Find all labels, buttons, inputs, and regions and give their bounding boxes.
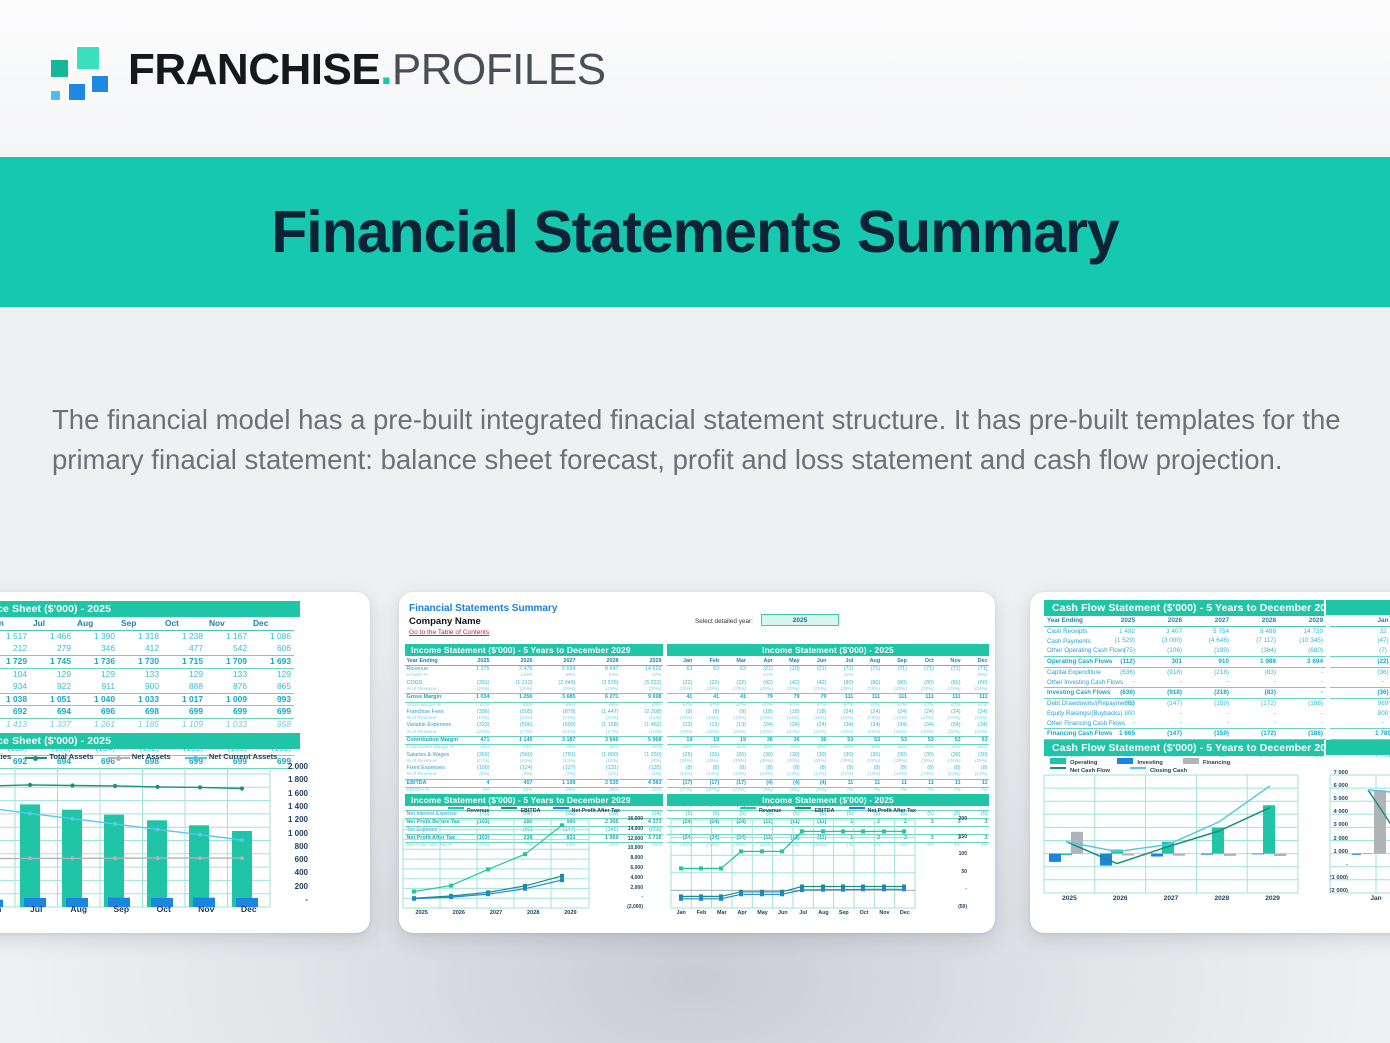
cell: (13) — [721, 722, 748, 729]
cell: Equity Raisings/(Buybacks) — [1044, 709, 1091, 719]
x-tick: Jun — [773, 910, 793, 916]
balance-sheet-chart — [0, 767, 270, 907]
cell: (42) — [747, 680, 774, 687]
x-tick: May — [752, 910, 772, 916]
cell: 11 — [962, 779, 989, 787]
table-row: (36) — [1330, 667, 1390, 677]
cell: (5 222) — [620, 680, 663, 687]
cell: (3 576) — [577, 680, 620, 687]
cell: Aug — [74, 618, 118, 630]
cell: (29%) — [448, 687, 491, 694]
cell: (323) — [448, 722, 491, 729]
cash-flow-chart-svg — [1044, 775, 1298, 893]
cell: - — [1138, 718, 1185, 728]
cell: (17) — [667, 779, 694, 787]
cell: (20%) — [962, 730, 989, 737]
cell: 19 — [667, 737, 694, 745]
cell: % of Revenue — [405, 730, 448, 737]
cell: Financing Cash Flows — [1044, 729, 1091, 740]
cell: 53 — [935, 737, 962, 745]
cell: 1 033 — [118, 693, 162, 706]
cell: 19 — [721, 737, 748, 745]
cell: (20%) — [667, 730, 694, 737]
cell: Jun — [801, 658, 828, 666]
cell: (71) — [855, 666, 882, 674]
cell: 699 — [206, 706, 250, 719]
screenshot-card-income-statement[interactable]: Financial Statements Summary Company Nam… — [399, 592, 995, 933]
cell: (22) — [667, 680, 694, 687]
cell: (1 447) — [577, 709, 620, 716]
cell: - — [1138, 677, 1185, 687]
cell: 9 488 — [1232, 626, 1279, 636]
cell: 30% — [448, 745, 491, 752]
cell: 30% — [747, 745, 774, 752]
table-row: (9)(9)(9)(18)(18)(18)(24)(24)(24)(24)(24… — [667, 709, 989, 716]
cell: 2028 — [1232, 616, 1279, 626]
x-tick: 2028 — [1196, 895, 1247, 902]
cell: 696 — [74, 706, 118, 719]
table-row: Gross Margin %67%69%69%69%69% — [405, 702, 663, 709]
balance-sheet-table-title: Balance Sheet ($'000) - 2025 — [0, 601, 300, 617]
cell: (30) — [908, 752, 935, 759]
cell: Variable Expenses — [405, 722, 448, 729]
cash-flow-table-title: Cash Flow Statement ($'000) - 5 Years to… — [1044, 600, 1324, 616]
table-row: Franchise Fees(396)(505)(879)(1 447)(2 2… — [405, 709, 663, 716]
table-row: (13%)(13%)(13%)(13%)(13%)(13%)(13%)(13%)… — [667, 772, 989, 779]
y-tick: 16,000 — [628, 816, 643, 822]
cell: (918) — [1138, 667, 1185, 677]
x-tick: Oct — [854, 910, 874, 916]
cell: - — [1279, 677, 1326, 687]
y-tick: 50 — [961, 869, 967, 875]
cell: (14%) — [534, 730, 577, 737]
legend-label: Investing — [1137, 760, 1162, 766]
cell: Gross Margin % — [405, 702, 448, 709]
x-tick: 2029 — [552, 910, 589, 916]
legend-item: Financing — [1183, 758, 1230, 766]
y-tick: 1 400 — [288, 802, 308, 811]
cell: (17%) — [577, 730, 620, 737]
cell: 30% — [801, 745, 828, 752]
cell: Cash Payments — [1044, 636, 1091, 646]
legend-label: Financing — [1203, 760, 1230, 766]
income-5y-chart-svg — [403, 820, 589, 908]
cell: 1 185 — [118, 719, 162, 731]
cell: 63 — [721, 666, 748, 674]
cell: (13%) — [962, 772, 989, 779]
cell: 1 789 — [1330, 729, 1390, 740]
cell: Operating Cash Flows — [1044, 656, 1091, 667]
cell: 2029 — [620, 658, 663, 666]
cell: 1 709 — [206, 655, 250, 668]
table-row: Equity Raisings/(Buybacks)800---- — [1044, 709, 1326, 719]
cash-flow-table: Year Ending20252026202720282029Cash Rece… — [1044, 616, 1326, 760]
cell: 53 — [882, 737, 909, 745]
cell: 63 — [667, 666, 694, 674]
cell: 32 — [1330, 626, 1390, 636]
cell: Oct — [908, 658, 935, 666]
cell: (29%) — [801, 687, 828, 694]
y-tick: 6,000 — [630, 865, 643, 871]
markers-revenue — [412, 823, 564, 893]
cell: 67% — [908, 702, 935, 709]
table-row: 414141797979111111111111111111 — [667, 694, 989, 702]
cell: 11 — [882, 779, 909, 787]
page-header: FRANCHISE.PROFILES — [0, 0, 1390, 157]
cell: (4) — [774, 779, 801, 787]
cell: 67% — [828, 702, 855, 709]
cell: (29%) — [828, 687, 855, 694]
legend-label: Closing Cash — [1150, 768, 1187, 774]
cell: 53 — [962, 737, 989, 745]
cell: (106) — [1138, 646, 1185, 656]
cell: (10%) — [620, 730, 663, 737]
cell: 19 — [694, 737, 721, 745]
y-tick: 800 — [295, 842, 308, 851]
cell: 30% — [774, 745, 801, 752]
cell: 129 — [162, 668, 206, 680]
cell: 993 — [250, 693, 294, 706]
x-tick: Sep — [100, 904, 143, 922]
cell: (13%) — [667, 772, 694, 779]
x-tick: Nov — [185, 904, 228, 922]
income-monthly-chart-title: Income Statement ($'000) - 2025 — [667, 794, 989, 806]
cell: 1 729 — [0, 655, 30, 668]
cell: 279 — [30, 643, 74, 655]
cell: Other Financing Cash Flows — [1044, 718, 1091, 728]
legend-item: Revenue — [740, 808, 781, 814]
legend-row: Net Cash FlowClosing Cash — [1050, 768, 1320, 774]
cell: (42) — [774, 680, 801, 687]
brand-wordmark: FRANCHISE.PROFILES — [128, 48, 606, 92]
cell: (20%) — [882, 730, 909, 737]
table-row: (7) — [1330, 646, 1390, 656]
cell: Aug — [855, 658, 882, 666]
bar-operating-jan — [1363, 853, 1372, 854]
cell: (29%) — [534, 687, 577, 694]
cell: 1 145 — [491, 737, 534, 745]
cell: (29%) — [962, 687, 989, 694]
legend-item: Net Profit After Tax — [553, 808, 621, 814]
logo-square-4 — [67, 82, 87, 102]
cell: 698 — [118, 706, 162, 719]
cell: 1 167 — [206, 630, 250, 642]
cell: Nov — [935, 658, 962, 666]
year-select-input[interactable]: 2025 — [761, 614, 839, 626]
legend-label: Total Assets — [49, 752, 93, 761]
cell: 67% — [667, 702, 694, 709]
cell: 3 666 — [577, 737, 620, 745]
cell: (29%) — [747, 687, 774, 694]
table-row: % of Revenue(20%)(17%)(14%)(17%)(10%) — [405, 730, 663, 737]
cell: 11 — [828, 779, 855, 787]
cell: 694 — [30, 706, 74, 719]
y-tick: 12,000 — [628, 836, 643, 842]
cell: (71) — [882, 666, 909, 674]
legend-item: Net Cash Flow — [1050, 768, 1110, 774]
cell: 111 — [882, 694, 909, 702]
income-5y-x-axis: 20252026202720282029 — [403, 910, 589, 916]
cash-flow-monthly-chart — [1330, 775, 1390, 893]
cell: (369) — [448, 752, 491, 759]
cell: (13%) — [908, 772, 935, 779]
cell: (36) — [1330, 688, 1390, 699]
cell: 23% — [491, 745, 534, 752]
table-row: Gross Margin1 0341 2563 6856 2719 698 — [405, 694, 663, 702]
cell: 1 375 — [448, 666, 491, 674]
cell: (505) — [491, 709, 534, 716]
cell: Contribution Margin — [405, 737, 448, 745]
cell: 30% — [882, 745, 909, 752]
cell: 111 — [855, 694, 882, 702]
cell: (22) — [721, 680, 748, 687]
cell: (24) — [855, 709, 882, 716]
cell: (29%) — [577, 687, 620, 694]
cell: (18) — [801, 709, 828, 716]
cell: 3 187 — [534, 737, 577, 745]
cell: (9) — [721, 709, 748, 716]
cell: Sep — [882, 658, 909, 666]
x-tick: Mar — [712, 910, 732, 916]
cell: (13%) — [774, 772, 801, 779]
brand-logo: FRANCHISE.PROFILES — [48, 44, 606, 96]
income-monthly-y-axis: 20015010050-(50) — [915, 816, 977, 912]
line-net-cash-flow — [1066, 808, 1270, 864]
cell: (25) — [667, 752, 694, 759]
cell: 11 — [855, 779, 882, 787]
cell: (26) — [721, 752, 748, 759]
cell: 412 — [118, 643, 162, 655]
table-row: 945934922911900888876865 — [0, 681, 294, 693]
cell: (596) — [491, 722, 534, 729]
cell: (172) — [1232, 698, 1279, 708]
cell: (2 049) — [534, 680, 577, 687]
x-tick: Jul — [793, 910, 813, 916]
table-row: (22) — [1330, 656, 1390, 667]
y-tick: 1 800 — [288, 775, 308, 784]
cell: (18) — [747, 709, 774, 716]
cell: (29%) — [908, 687, 935, 694]
cell: (159) — [1185, 698, 1232, 708]
cell: Mar — [721, 658, 748, 666]
cell: 1 199 — [534, 779, 577, 787]
cell: 1 736 — [74, 655, 118, 668]
cell: (20%) — [747, 730, 774, 737]
cell: - — [1185, 718, 1232, 728]
cell: (13%) — [855, 772, 882, 779]
cell: (199) — [1185, 646, 1232, 656]
cash-flow-table-title-continuation — [1326, 600, 1390, 615]
table-row: Cash Payments(1 529)(3 000)(4 646)(7 117… — [1044, 636, 1326, 646]
cash-flow-monthly-chart-svg — [1330, 775, 1390, 893]
cell: (1%) — [620, 772, 663, 779]
table-row: 1 7491 7291 7451 7361 7301 7151 7091 693 — [0, 655, 294, 668]
cell: (1 158) — [577, 722, 620, 729]
cell: (29%) — [882, 687, 909, 694]
cell: (13%) — [747, 772, 774, 779]
cell: (218) — [1185, 667, 1232, 677]
cell: (18) — [774, 709, 801, 716]
table-row: (47) — [1330, 636, 1390, 646]
cell: 1 318 — [118, 630, 162, 642]
gridlines — [671, 820, 915, 908]
cell: (560) — [491, 752, 534, 759]
table-row: Investing Cash Flows(636)(918)(218)(83)- — [1044, 688, 1326, 699]
cell: 1 017 — [162, 693, 206, 706]
table-row: Contribution Margin %30%23%28%36%40% — [405, 745, 663, 752]
cell: Dec — [962, 658, 989, 666]
cell: 1 034 — [448, 694, 491, 702]
legend-label: Net Profit After Tax — [572, 808, 621, 814]
income-5y-table-title: Income Statement ($'000) - 5 Years to De… — [405, 644, 663, 656]
table-row: Year Ending20252026202720282029 — [405, 658, 663, 666]
cell: 4 583 — [620, 779, 663, 787]
cell: 41 — [694, 694, 721, 702]
x-tick: Feb — [691, 910, 711, 916]
cell: 1 033 — [206, 719, 250, 731]
cell: 67% — [855, 702, 882, 709]
cell: 692 — [0, 706, 30, 719]
cell: 2027 — [1185, 616, 1232, 626]
cell: 2 535 — [577, 779, 620, 787]
cell: 11 — [908, 779, 935, 787]
table-row: Capital Expenditure(636)(918)(218)(83)- — [1044, 667, 1326, 677]
cell: (2 208) — [620, 709, 663, 716]
cell: Jan — [667, 658, 694, 666]
cell: (879) — [534, 709, 577, 716]
cell: 69% — [577, 702, 620, 709]
cash-flow-chart-title-continuation — [1326, 740, 1390, 755]
cell: 699 — [250, 706, 294, 719]
cell: 28% — [534, 745, 577, 752]
logo-square-3 — [90, 74, 110, 94]
cell: (1 000) — [577, 752, 620, 759]
x-tick: 2025 — [1044, 895, 1095, 902]
toc-link[interactable]: Go to the Table of Contents — [409, 629, 489, 636]
cell: 1 693 — [250, 655, 294, 668]
cell: (24) — [801, 722, 828, 729]
cell: Apr — [747, 658, 774, 666]
table-row: JanFebMarAprMayJunJulAugSepOctNovDec — [667, 658, 989, 666]
table-row: MayJunJulAugSepOctNovDec — [0, 618, 294, 630]
cell: (22) — [1330, 656, 1390, 667]
cell: 4 — [448, 779, 491, 787]
cash-flow-chart-legend: OperatingInvestingFinancingNet Cash Flow… — [1050, 758, 1320, 776]
screenshot-card-balance-sheet[interactable]: Balance Sheet ($'000) - 2025 MayJunJulAu… — [0, 592, 370, 933]
title-banner: Financial Statements Summary — [0, 157, 1390, 307]
cell: 3 685 — [534, 694, 577, 702]
income-monthly-table-title: Income Statement ($'000) - 2025 — [667, 644, 989, 656]
cell: (918) — [1138, 688, 1185, 699]
cell: 36% — [577, 745, 620, 752]
cell: 2027 — [534, 658, 577, 666]
cell: - — [1279, 667, 1326, 677]
cell: 53 — [908, 737, 935, 745]
cell: 63 — [694, 666, 721, 674]
gridlines — [403, 820, 589, 908]
cell: (218) — [1185, 688, 1232, 699]
cell: - — [1232, 677, 1279, 687]
cell: 1 238 — [162, 630, 206, 642]
cell: 67% — [774, 702, 801, 709]
cell: 9 698 — [620, 694, 663, 702]
cell: (22) — [694, 680, 721, 687]
cell: (20%) — [774, 730, 801, 737]
cell: (2%) — [534, 772, 577, 779]
cell: (9) — [667, 709, 694, 716]
cell: (13%) — [721, 772, 748, 779]
cell: 53 — [855, 737, 882, 745]
y-tick: (2,000) — [627, 904, 643, 910]
income-5y-chart-title: Income Statement ($'000) - 5 Years to De… — [405, 794, 663, 806]
cell: (2%) — [577, 772, 620, 779]
cell: (24) — [908, 709, 935, 716]
legend-item: EBITDA — [501, 808, 540, 814]
balance-sheet-chart-title: Balance Sheet ($'000) - 2025 — [0, 733, 300, 749]
legend-label: Net Cash Flow — [1070, 768, 1110, 774]
cell: 67% — [694, 702, 721, 709]
cell: - — [1232, 709, 1279, 719]
cash-flow-chart — [1044, 775, 1298, 893]
y-tick: 4,000 — [630, 875, 643, 881]
cell: 111 — [962, 694, 989, 702]
y-tick: 1 200 — [288, 815, 308, 824]
cell: 1 086 — [250, 630, 294, 642]
cell: 67% — [448, 702, 491, 709]
cell: Other Operating Cash Flows — [1044, 646, 1091, 656]
cell: (29%) — [667, 687, 694, 694]
cell: 67% — [801, 702, 828, 709]
cell: 477 — [162, 643, 206, 655]
legend-label: Revenue — [759, 808, 781, 814]
table-row: Salaries & Wages(369)(560)(781)(1 000)(1… — [405, 752, 663, 759]
cell: 129 — [74, 668, 118, 680]
screenshot-card-cash-flow[interactable]: Cash Flow Statement ($'000) - 5 Years to… — [1030, 592, 1390, 933]
cell: Oct — [162, 618, 206, 630]
cell: 2025 — [1091, 616, 1138, 626]
cell: 1 256 — [491, 694, 534, 702]
cell: 800 — [1330, 709, 1390, 719]
cell: (20%) — [828, 730, 855, 737]
cell: 67% — [721, 702, 748, 709]
cell: - — [1279, 718, 1326, 728]
cell: (20%) — [721, 730, 748, 737]
income-monthly-chart — [671, 820, 915, 908]
cell: 865 — [250, 681, 294, 693]
legend-label: EBITDA — [814, 808, 834, 814]
y-tick: 150 — [959, 834, 967, 840]
cell: 301 — [1138, 656, 1185, 667]
cell: (83) — [1232, 688, 1279, 699]
x-tick: Sep — [834, 910, 854, 916]
cell: - — [1330, 718, 1390, 728]
cell: Debt Drawdowns/(Repayments) — [1044, 698, 1091, 708]
cell: Contribution Margin % — [405, 745, 448, 752]
cell: 67% — [935, 702, 962, 709]
cell: (147) — [1138, 729, 1185, 740]
cell: 36 — [801, 737, 828, 745]
table-row: Operating Cash Flows(112)3019101 9863 69… — [1044, 656, 1326, 667]
cell: (34) — [935, 722, 962, 729]
income-5y-y-axis: 16,00014,00012,00010,0008,0006,0004,0002… — [589, 816, 651, 912]
table-row: 30%30%30%30%30%30%30%30%30%30%30%30% — [667, 745, 989, 752]
table-row: 1 5711 5171 4661 3901 3181 2381 1671 086 — [0, 630, 294, 642]
y-tick: - — [305, 895, 308, 904]
cell: Jul — [828, 658, 855, 666]
cell: (29%) — [694, 687, 721, 694]
cell: 41 — [667, 694, 694, 702]
legend-item: Revenue — [448, 808, 489, 814]
